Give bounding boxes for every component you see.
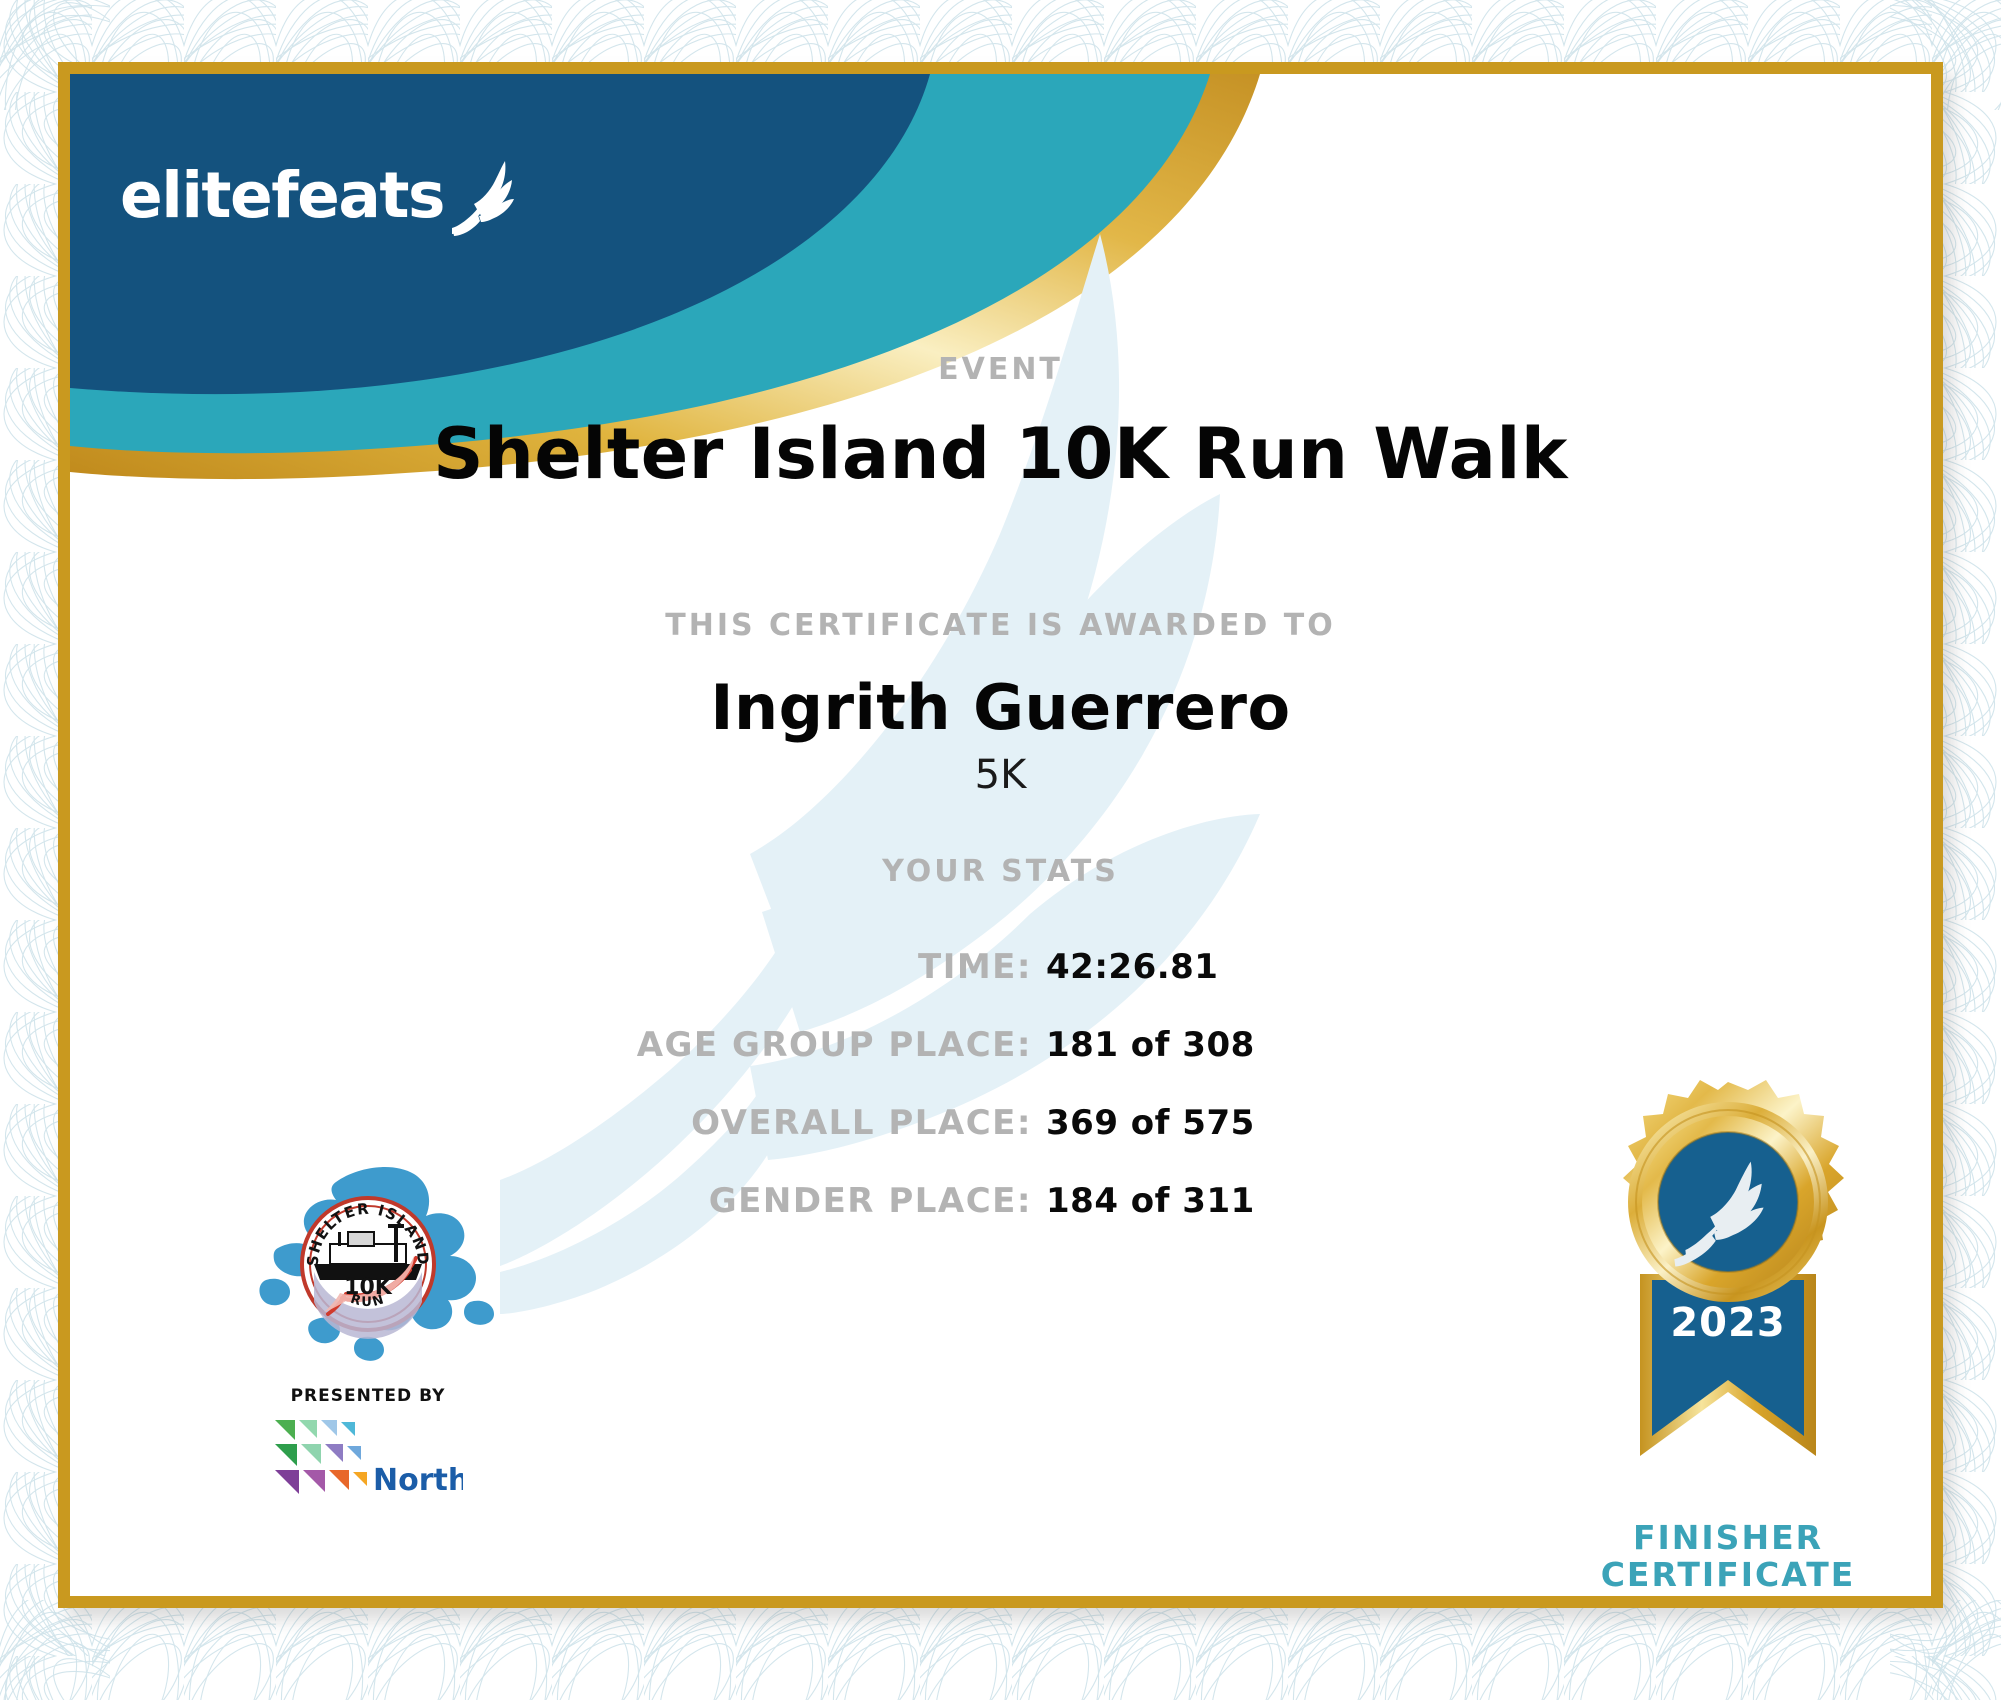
stats-label: YOUR STATS: [70, 854, 1931, 889]
race-logo-distance: 10K: [344, 1275, 393, 1300]
stat-label: GENDER PLACE:: [600, 1181, 1032, 1221]
certificate-gold-frame: elitefeats: [58, 62, 1943, 1608]
winged-foot-icon: [450, 158, 522, 238]
certificate-card: elitefeats: [70, 74, 1931, 1596]
stat-value: 184 of 311: [1046, 1181, 1255, 1221]
stat-row-time: TIME: 42:26.81: [600, 947, 1340, 987]
stat-label: AGE GROUP PLACE:: [600, 1025, 1032, 1065]
finisher-medal-block: 2023 FINISHER CERTIFICATE: [1578, 1074, 1878, 1594]
shelter-island-10k-logo: SHELTER ISLAND RUN 10K: [218, 1152, 518, 1382]
stat-row-age-group-place: AGE GROUP PLACE: 181 of 308: [600, 1025, 1340, 1065]
certificate-page: elitefeats: [0, 0, 2001, 1700]
northwell-health-logo: Northwell Health: [218, 1414, 518, 1500]
event-label: EVENT: [70, 352, 1931, 387]
medal-year: 2023: [1670, 1300, 1785, 1346]
race-distance: 5K: [70, 752, 1931, 798]
brand-logo: elitefeats: [120, 152, 522, 238]
finisher-medal-icon: 2023: [1578, 1074, 1878, 1514]
certificate-content: EVENT Shelter Island 10K Run Walk THIS C…: [70, 74, 1931, 1596]
event-section: EVENT Shelter Island 10K Run Walk: [70, 352, 1931, 495]
medal-caption-line2: CERTIFICATE: [1578, 1557, 1878, 1594]
stat-label: OVERALL PLACE:: [600, 1103, 1032, 1143]
sponsor-name: Northwell: [373, 1463, 463, 1498]
recipient-name: Ingrith Guerrero: [70, 671, 1931, 744]
medal-caption-line1: FINISHER: [1578, 1520, 1878, 1557]
event-title: Shelter Island 10K Run Walk: [70, 413, 1931, 495]
sponsor-sub: Health: [373, 1499, 445, 1500]
brand-wordmark: elitefeats: [120, 164, 444, 227]
stats-rows: TIME: 42:26.81 AGE GROUP PLACE: 181 of 3…: [600, 947, 1340, 1221]
race-logo-block: SHELTER ISLAND RUN 10K PRESENTED BY: [218, 1152, 518, 1500]
stat-row-gender-place: GENDER PLACE: 184 of 311: [600, 1181, 1340, 1221]
stat-value: 42:26.81: [1046, 947, 1218, 987]
stat-label: TIME:: [600, 947, 1032, 987]
stat-row-overall-place: OVERALL PLACE: 369 of 575: [600, 1103, 1340, 1143]
awarded-section: THIS CERTIFICATE IS AWARDED TO Ingrith G…: [70, 608, 1931, 798]
awarded-label: THIS CERTIFICATE IS AWARDED TO: [70, 608, 1931, 643]
stat-value: 369 of 575: [1046, 1103, 1255, 1143]
presented-by-label: PRESENTED BY: [218, 1386, 518, 1406]
medal-caption: FINISHER CERTIFICATE: [1578, 1520, 1878, 1594]
stat-value: 181 of 308: [1046, 1025, 1255, 1065]
